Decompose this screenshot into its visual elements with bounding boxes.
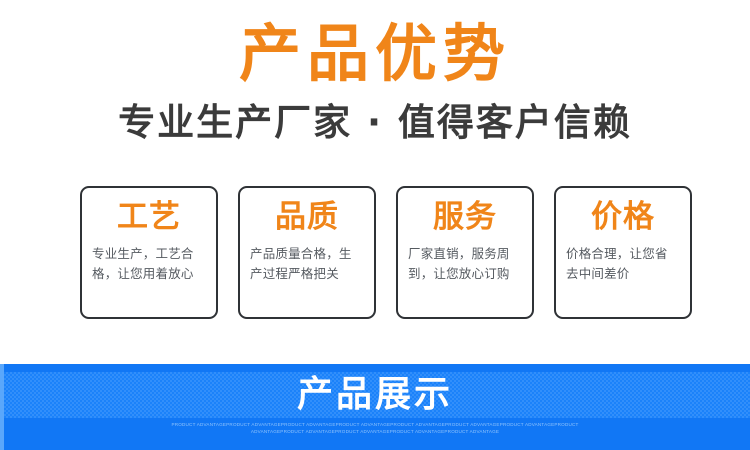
page-subtitle: 专业生产厂家 · 值得客户信赖 xyxy=(0,100,750,146)
advantage-card-quality: 品质 产品质量合格，生产过程严格把关 xyxy=(238,186,376,319)
advantage-card-service: 服务 厂家直销，服务周到，让您放心订购 xyxy=(396,186,534,319)
advantage-card-description: 产品质量合格，生产过程严格把关 xyxy=(248,244,366,284)
advantage-card-craft: 工艺 专业生产，工艺合格，让您用着放心 xyxy=(80,186,218,319)
banner-title: 产品展示 xyxy=(0,372,750,418)
advantage-card-title: 工艺 xyxy=(90,196,208,238)
advantage-card-price: 价格 价格合理，让您省去中间差价 xyxy=(554,186,692,319)
product-advantage-poster: 产品优势 专业生产厂家 · 值得客户信赖 工艺 专业生产，工艺合格，让您用着放心… xyxy=(0,0,750,450)
advantage-card-description: 专业生产，工艺合格，让您用着放心 xyxy=(90,244,208,284)
poster-header: 产品优势 专业生产厂家 · 值得客户信赖 xyxy=(0,0,750,170)
advantage-card-description: 价格合理，让您省去中间差价 xyxy=(564,244,682,284)
banner-micro-text-line-1: PRODUCT ADVANTAGEPRODUCT ADVANTAGEPRODUC… xyxy=(0,421,750,428)
page-title: 产品优势 xyxy=(0,18,750,90)
product-showcase-banner: 产品展示 PRODUCT ADVANTAGEPRODUCT ADVANTAGEP… xyxy=(0,364,750,450)
advantage-card-title: 品质 xyxy=(248,196,366,238)
advantage-card-description: 厂家直销，服务周到，让您放心订购 xyxy=(406,244,524,284)
advantage-card-title: 服务 xyxy=(406,196,524,238)
banner-micro-text-line-2: ADVANTAGEPRODUCT ADVANTAGEPRODUCT ADVANT… xyxy=(95,428,655,435)
advantage-card-title: 价格 xyxy=(564,196,682,238)
advantage-card-list: 工艺 专业生产，工艺合格，让您用着放心 品质 产品质量合格，生产过程严格把关 服… xyxy=(80,186,692,319)
banner-micro-text: PRODUCT ADVANTAGEPRODUCT ADVANTAGEPRODUC… xyxy=(0,421,750,435)
